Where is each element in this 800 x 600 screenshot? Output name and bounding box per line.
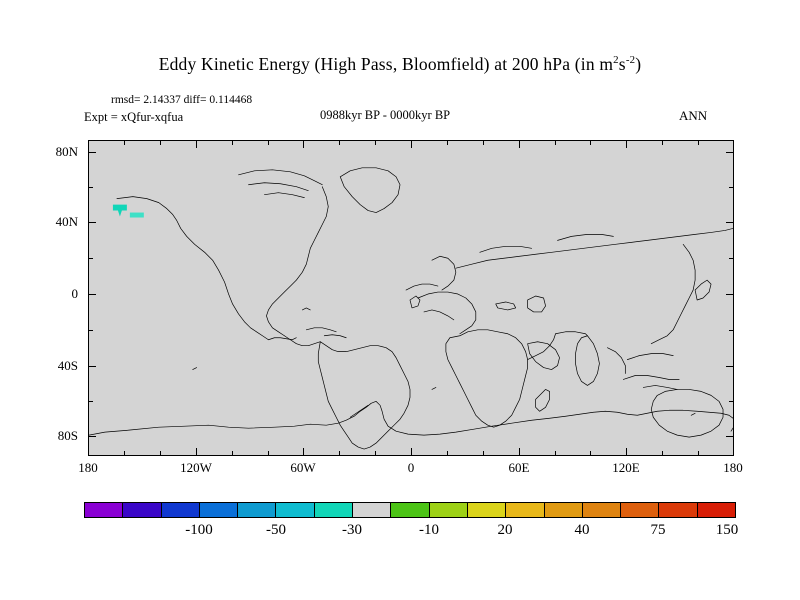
xtick-top-120e <box>626 140 627 148</box>
ytick-right-minor-20s <box>729 330 734 331</box>
colorbar-label-40: 40 <box>542 522 622 539</box>
xtick-top-180e <box>733 140 734 148</box>
ylabel-40n: 40N <box>18 214 78 230</box>
xtick-120e <box>626 448 627 456</box>
colorbar-band-12 <box>545 503 583 517</box>
xtick-minor-40e <box>483 451 484 456</box>
xlabel-180e: 180 <box>698 460 768 476</box>
colorbar-label-20: 20 <box>465 522 545 539</box>
colorbar-label-minus10: -10 <box>389 522 469 539</box>
ytick-right-80s <box>726 436 734 437</box>
xtick-top-minor-140e <box>662 140 663 145</box>
ytick-80s <box>88 436 96 437</box>
colorbar-label-minus30: -30 <box>312 522 392 539</box>
xtick-top-minor-80e <box>555 140 556 145</box>
xtick-minor-140w <box>160 451 161 456</box>
xtick-120w <box>196 448 197 456</box>
xtick-top-180w <box>88 140 89 148</box>
colorbar-band-6 <box>315 503 353 517</box>
xtick-minor-80e <box>555 451 556 456</box>
ylabel-0: 0 <box>18 286 78 302</box>
ytick-right-minor-60s <box>729 401 734 402</box>
xlabel-0: 0 <box>376 460 446 476</box>
xtick-top-minor-160w <box>124 140 125 145</box>
colorbar-band-3 <box>200 503 238 517</box>
xlabel-120w: 120W <box>161 460 231 476</box>
xtick-minor-100e <box>590 451 591 456</box>
rmsd-statistics-label: rmsd= 2.14337 diff= 0.114468 <box>111 94 252 106</box>
xtick-minor-160w <box>124 451 125 456</box>
ytick-right-80n <box>726 152 734 153</box>
colorbar <box>84 502 736 518</box>
ytick-minor-60s <box>88 401 93 402</box>
season-label: ANN <box>679 108 707 124</box>
ytick-40s <box>88 366 96 367</box>
colorbar-band-8 <box>391 503 429 517</box>
title-superscript-2: -2 <box>626 54 635 66</box>
ylabel-80s: 80S <box>18 428 78 444</box>
xtick-minor-20e <box>447 451 448 456</box>
map-plot-area <box>88 140 734 456</box>
xtick-minor-140e <box>662 451 663 456</box>
xlabel-180w: 180 <box>53 460 123 476</box>
colorbar-label-minus100: -100 <box>159 522 239 539</box>
xtick-top-0 <box>411 140 412 148</box>
xtick-top-120w <box>196 140 197 148</box>
ytick-80n <box>88 152 96 153</box>
colorbar-label-minus50: -50 <box>236 522 316 539</box>
ytick-right-0 <box>726 294 734 295</box>
ytick-40n <box>88 222 96 223</box>
xtick-top-minor-160e <box>698 140 699 145</box>
xtick-60e <box>519 448 520 456</box>
xlabel-60w: 60W <box>268 460 338 476</box>
colorbar-band-1 <box>123 503 161 517</box>
xtick-0 <box>411 448 412 456</box>
xtick-60w <box>303 448 304 456</box>
colorbar-band-5 <box>276 503 314 517</box>
xtick-top-minor-100e <box>590 140 591 145</box>
ytick-right-minor-20n <box>729 258 734 259</box>
xtick-180w <box>88 448 89 456</box>
xtick-top-minor-20e <box>447 140 448 145</box>
colorbar-band-15 <box>659 503 697 517</box>
anomaly-patch-primary <box>113 205 127 217</box>
colorbar-label-150: 150 <box>687 522 767 539</box>
ytick-minor-20s <box>88 330 93 331</box>
colorbar-band-7 <box>353 503 391 517</box>
period-label: 0988kyr BP - 0000kyr BP <box>320 108 450 123</box>
anomaly-patch-secondary <box>130 213 144 218</box>
xtick-top-minor-40w <box>339 140 340 145</box>
ylabel-40s: 40S <box>18 358 78 374</box>
xtick-top-60e <box>519 140 520 148</box>
xtick-top-minor-40e <box>483 140 484 145</box>
ytick-right-minor-60n <box>729 187 734 188</box>
xtick-top-60w <box>303 140 304 148</box>
anomaly-patches <box>89 141 733 455</box>
title-mid: s <box>619 54 626 74</box>
xtick-top-minor-80w <box>268 140 269 145</box>
colorbar-band-9 <box>430 503 468 517</box>
colorbar-band-11 <box>506 503 544 517</box>
title-prefix: Eddy Kinetic Energy (High Pass, Bloomfie… <box>159 54 613 74</box>
ytick-minor-60n <box>88 187 93 188</box>
ytick-right-40s <box>726 366 734 367</box>
xtick-top-minor-100w <box>232 140 233 145</box>
xlabel-120e: 120E <box>591 460 661 476</box>
xtick-180e <box>733 448 734 456</box>
ytick-0 <box>88 294 96 295</box>
xtick-minor-100w <box>232 451 233 456</box>
colorbar-band-10 <box>468 503 506 517</box>
colorbar-band-13 <box>583 503 621 517</box>
xtick-minor-20w <box>375 451 376 456</box>
experiment-label: Expt = xQfur-xqfua <box>84 110 183 125</box>
colorbar-band-0 <box>85 503 123 517</box>
colorbar-band-16 <box>698 503 735 517</box>
ylabel-80n: 80N <box>18 144 78 160</box>
xtick-top-minor-20w <box>375 140 376 145</box>
page-title: Eddy Kinetic Energy (High Pass, Bloomfie… <box>0 54 800 75</box>
colorbar-label-75: 75 <box>618 522 698 539</box>
xtick-minor-40w <box>339 451 340 456</box>
xtick-minor-160e <box>698 451 699 456</box>
title-suffix: ) <box>635 54 641 74</box>
ytick-minor-20n <box>88 258 93 259</box>
xlabel-60e: 60E <box>484 460 554 476</box>
colorbar-band-2 <box>162 503 200 517</box>
colorbar-band-4 <box>238 503 276 517</box>
xtick-minor-80w <box>268 451 269 456</box>
xtick-top-minor-140w <box>160 140 161 145</box>
colorbar-band-14 <box>621 503 659 517</box>
ytick-right-40n <box>726 222 734 223</box>
